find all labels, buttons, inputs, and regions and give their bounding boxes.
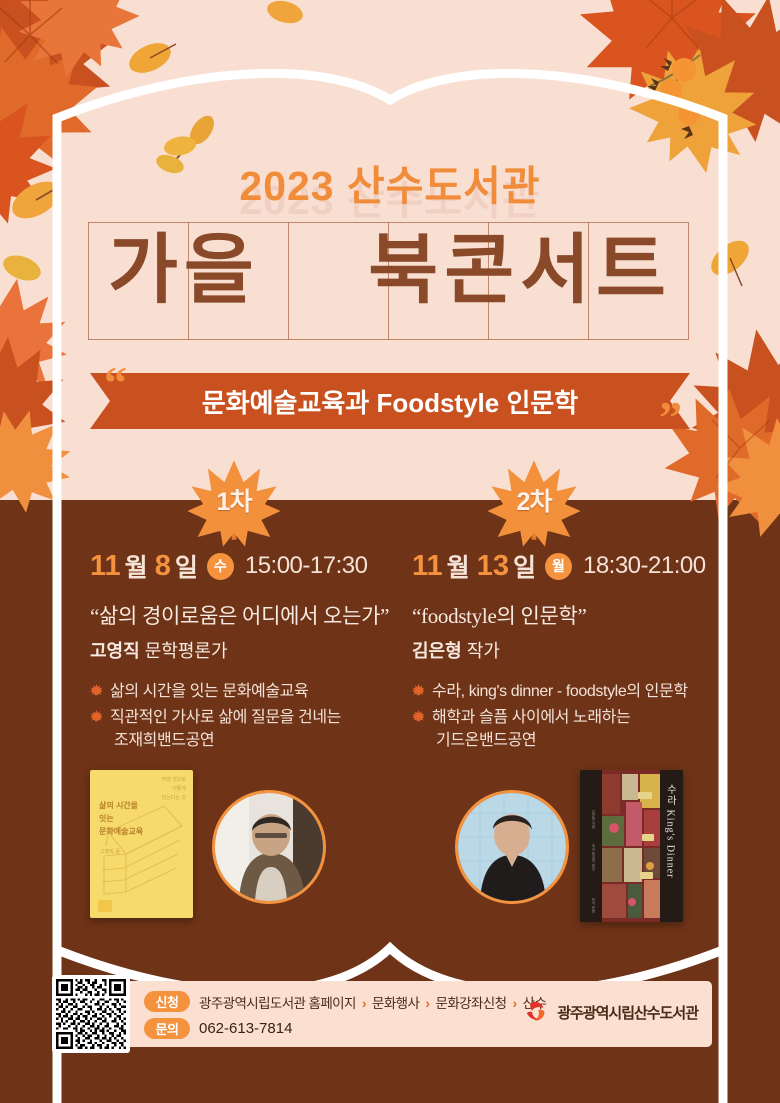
library-logo-icon [523, 999, 549, 1025]
chevron-right-icon: › [425, 996, 429, 1011]
footer-apply-row: 신청 광주광역시립도서관 홈페이지 › 문화행사 › 문화강좌신청 › 산수 [144, 991, 546, 1012]
list-item: 삶의 시간을 잇는 문화예술교육 [90, 680, 390, 703]
session-1-time: 15:00-17:30 [245, 552, 368, 580]
session-1: 11 월 8 일 수 15:00-17:30 “삶의 경이로움은 어디에서 오는… [90, 548, 390, 756]
session-2-talk-title: “foodstyle의 인문학” [412, 600, 712, 630]
session-1-weekday-badge: 수 [207, 553, 234, 580]
session-1-talk-title: “삶의 경이로움은 어디에서 오는가” [90, 600, 390, 630]
session-1-speaker-role: 문학평론가 [145, 641, 228, 661]
contact-label-badge: 문의 [144, 1018, 190, 1039]
session-1-day-unit: 일 [175, 548, 198, 584]
footer-info-bar: 신청 광주광역시립도서관 홈페이지 › 문화행사 › 문화강좌신청 › 산수 문… [68, 981, 712, 1047]
page-subtitle-year: 2023 산수도서관 2023 산수도서관 [0, 152, 780, 212]
list-item: 수라, king's dinner - foodstyle의 인문학 [412, 680, 712, 703]
book-cover-1-author: 고영직 글 [100, 848, 120, 855]
session-badge-2-label: 2차 [486, 482, 582, 518]
session-2-program-2-line1: 해학과 슬픔 사이에서 노래하는 [432, 709, 630, 726]
maple-leaf-bullet-icon [90, 683, 103, 696]
avatar-speaker-1 [212, 790, 326, 904]
apply-label-badge: 신청 [144, 991, 190, 1012]
session-2-month-unit: 월 [447, 548, 470, 584]
contact-phone[interactable]: 062-613-7814 [199, 1020, 292, 1037]
media-row: 어떤 것으로어떻게잇는다는 것 삶의 시간을잇는문화예술교육 고영직 글 [0, 770, 780, 930]
session-2-speaker-name: 김은형 [412, 641, 462, 661]
quote-open-icon: “ [104, 356, 127, 409]
session-2-speaker-role: 작가 [467, 641, 500, 661]
qr-code[interactable] [52, 975, 130, 1053]
chevron-right-icon: › [513, 996, 517, 1011]
session-1-date: 11 월 8 일 수 15:00-17:30 [90, 548, 390, 584]
apply-path: 광주광역시립도서관 홈페이지 › 문화행사 › 문화강좌신청 › 산수 [199, 992, 546, 1012]
apply-path-0: 광주광역시립도서관 홈페이지 [199, 996, 356, 1011]
session-2-program-list: 수라, king's dinner - foodstyle의 인문학 해학과 슬… [412, 680, 712, 753]
session-1-speaker-name: 고영직 [90, 641, 140, 661]
session-2-date: 11 월 13 일 월 18:30-21:00 [412, 548, 712, 584]
book-cover-session-1: 어떤 것으로어떻게잇는다는 것 삶의 시간을잇는문화예술교육 고영직 글 [90, 770, 193, 918]
book-illustration: 수라 King's Dinner 김은형 지음 조선 왕실의 밥상 한식 문화 [580, 770, 683, 922]
page-title: 가을 북콘서트 [0, 233, 780, 309]
session-1-month-number: 11 [90, 550, 121, 583]
session-1-month-unit: 월 [125, 548, 148, 584]
session-1-day-number: 8 [155, 550, 171, 583]
footer-contact-row: 문의 062-613-7814 [144, 1018, 292, 1039]
book-cover-2-spine-title: 수라 King's Dinner [665, 784, 677, 879]
apply-path-1: 문화행사 [372, 996, 419, 1011]
year-title-text: 2023 산수도서관 [239, 163, 540, 209]
quote-close-icon: ” [659, 391, 682, 444]
list-item: 해학과 슬픔 사이에서 노래하는 기드온밴드공연 [412, 706, 712, 752]
svg-text:조선 왕실의 밥상: 조선 왕실의 밥상 [591, 844, 596, 871]
speaker-photo-1 [215, 793, 323, 901]
chevron-right-icon: › [362, 996, 366, 1011]
book-cover-1-top-lines: 어떤 것으로어떻게잇는다는 것 [162, 776, 186, 803]
book-cover-session-2: 수라 King's Dinner 김은형 지음 조선 왕실의 밥상 한식 문화 [580, 770, 683, 922]
session-1-program-2-line1: 직관적인 가사로 삶에 질문을 건네는 [110, 709, 341, 726]
session-2-program-2-line2: 기드온밴드공연 [432, 729, 712, 752]
svg-text:김은형 지음: 김은형 지음 [591, 809, 596, 829]
ribbon-text: 문화예술교육과 Foodstyle 인문학 [202, 383, 578, 420]
library-logo: 광주광역시립산수도서관 [523, 999, 698, 1025]
book-cover-1-title: 삶의 시간을잇는문화예술교육 [99, 800, 143, 838]
session-badge-2: 2차 [486, 452, 582, 548]
session-2-day-number: 13 [477, 550, 509, 583]
session-2: 11 월 13 일 월 18:30-21:00 “foodstyle의 인문학”… [412, 548, 712, 756]
subtitle-ribbon: “ 문화예술교육과 Foodstyle 인문학 ” [90, 373, 690, 429]
qr-code-icon [56, 979, 126, 1049]
session-badge-1: 1차 [186, 452, 282, 548]
poster-root: 2023 산수도서관 2023 산수도서관 가을 북콘서트 “ 문화예술교육과 … [0, 0, 780, 1103]
session-1-program-1-line1: 삶의 시간을 잇는 문화예술교육 [110, 683, 308, 700]
session-2-day-unit: 일 [513, 548, 536, 584]
session-2-month-number: 11 [412, 550, 443, 583]
book-cover-1-publisher-mark [98, 900, 112, 912]
speaker-photo-2 [458, 793, 566, 901]
session-1-program-list: 삶의 시간을 잇는 문화예술교육 직관적인 가사로 삶에 질문을 건네는 조재희… [90, 680, 390, 753]
session-2-speaker: 김은형 작가 [412, 637, 712, 663]
list-item: 직관적인 가사로 삶에 질문을 건네는 조재희밴드공연 [90, 706, 390, 752]
svg-text:한식 문화: 한식 문화 [591, 897, 596, 913]
maple-leaf-bullet-icon [412, 683, 425, 696]
library-name: 광주광역시립산수도서관 [557, 1002, 698, 1023]
session-1-program-2-line2: 조재희밴드공연 [110, 729, 390, 752]
session-2-time: 18:30-21:00 [583, 552, 706, 580]
session-2-program-1-line1: 수라, king's dinner - foodstyle의 인문학 [432, 683, 688, 700]
avatar-speaker-2 [455, 790, 569, 904]
maple-leaf-bullet-icon [412, 709, 425, 722]
apply-path-2: 문화강좌신청 [436, 996, 507, 1011]
maple-leaf-bullet-icon [90, 709, 103, 722]
session-2-weekday-badge: 월 [545, 553, 572, 580]
session-1-speaker: 고영직 문학평론가 [90, 637, 390, 663]
session-badge-1-label: 1차 [186, 482, 282, 518]
